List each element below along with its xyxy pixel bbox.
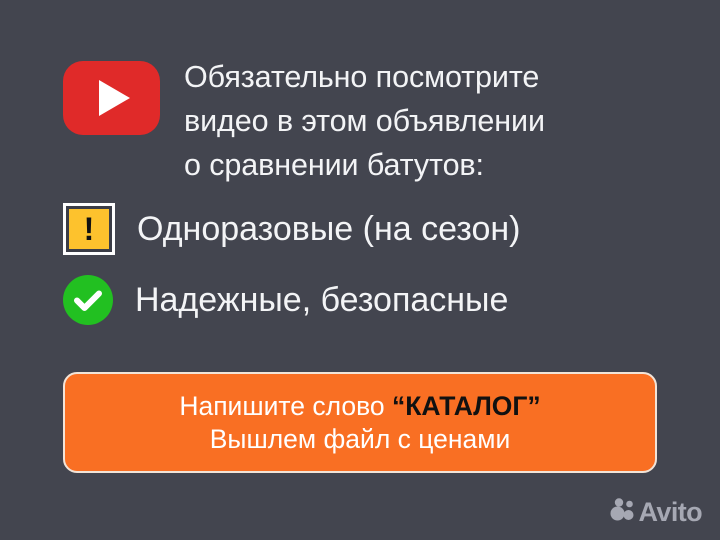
cta-line-secondary: Вышлем файл с ценами: [210, 423, 511, 456]
cta-prefix-text: Напишите слово: [179, 391, 392, 421]
cta-keyword-text: “КАТАЛОГ”: [392, 391, 541, 421]
warning-exclamation-icon: !: [63, 203, 115, 255]
youtube-play-icon: [63, 61, 160, 135]
check-circle-icon: [63, 275, 113, 325]
advertisement-banner: Обязательно посмотрите видео в этом объя…: [0, 0, 720, 540]
warning-icon-inset: !: [66, 206, 112, 252]
cta-button[interactable]: Напишите слово “КАТАЛОГ” Вышлем файл с ц…: [63, 372, 657, 473]
feature-label-disposable: Одноразовые (на сезон): [137, 209, 520, 249]
avito-wordmark: Avito: [639, 499, 703, 526]
headline-text: Обязательно посмотрите видео в этом объя…: [184, 55, 663, 187]
play-triangle-icon: [99, 80, 130, 116]
feature-row-disposable: ! Одноразовые (на сезон): [63, 203, 520, 255]
avito-dots-icon: [610, 497, 636, 528]
headline-block: Обязательно посмотрите видео в этом объя…: [63, 55, 663, 187]
headline-line-1: Обязательно посмотрите: [184, 55, 663, 99]
avito-watermark: Avito: [610, 497, 703, 528]
cta-line-primary: Напишите слово “КАТАЛОГ”: [179, 390, 540, 423]
warning-icon-glyph: !: [69, 211, 109, 247]
headline-line-3: о сравнении батутов:: [184, 143, 663, 187]
warning-icon-plate: !: [69, 209, 109, 249]
feature-label-reliable: Надежные, безопасные: [135, 280, 508, 320]
feature-row-reliable: Надежные, безопасные: [63, 275, 508, 325]
headline-line-2: видео в этом объявлении: [184, 99, 663, 143]
